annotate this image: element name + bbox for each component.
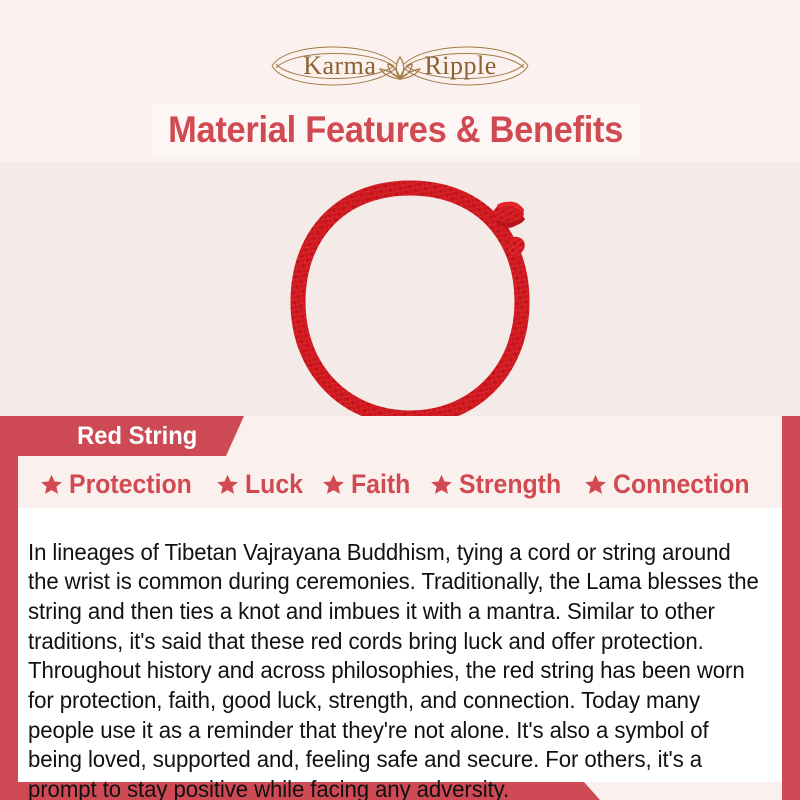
- brand-name-right: Ripple: [422, 51, 498, 81]
- brand-logo: Karma Ripple: [0, 38, 800, 94]
- brand-name-left: Karma: [301, 51, 378, 81]
- feature-item-faith: Faith: [321, 469, 416, 500]
- title-banner: Material Features & Benefits: [152, 103, 640, 157]
- feature-label-faith: Faith: [351, 469, 410, 500]
- infographic-page: Karma Ripple: [0, 0, 800, 800]
- feature-item-connection: Connection: [583, 469, 762, 500]
- feature-label-connection: Connection: [613, 469, 750, 500]
- lotus-icon: [378, 53, 422, 83]
- star-icon: [321, 472, 346, 497]
- star-icon: [39, 472, 64, 497]
- red-string-bracelet-image: [250, 162, 570, 416]
- feature-item-protection: Protection: [39, 469, 203, 500]
- brand-logo-wrap: Karma Ripple: [266, 38, 534, 94]
- feature-label-strength: Strength: [459, 469, 561, 500]
- feature-item-luck: Luck: [215, 469, 308, 500]
- feature-label-protection: Protection: [69, 469, 192, 500]
- page-title: Material Features & Benefits: [169, 109, 624, 151]
- feature-item-strength: Strength: [429, 469, 570, 500]
- feature-label-luck: Luck: [245, 469, 303, 500]
- header: Karma Ripple: [0, 0, 800, 162]
- description-panel: In lineages of Tibetan Vajrayana Buddhis…: [18, 508, 782, 782]
- material-label: Red String: [77, 422, 197, 451]
- brand-name: Karma Ripple: [301, 51, 499, 81]
- star-icon: [429, 472, 454, 497]
- features-list: Protection Luck Faith Strength Connectio: [18, 462, 782, 506]
- star-icon: [215, 472, 240, 497]
- star-icon: [583, 472, 608, 497]
- product-image-area: [0, 162, 800, 416]
- description-text: In lineages of Tibetan Vajrayana Buddhis…: [28, 538, 763, 800]
- material-label-banner: Red String: [18, 416, 244, 456]
